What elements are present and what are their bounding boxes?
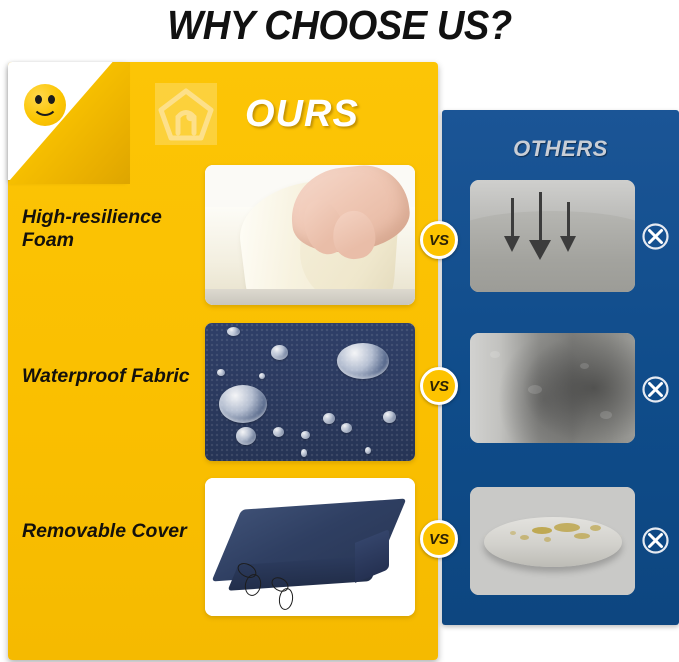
feature-label-row-2: Waterproof Fabric xyxy=(22,365,202,388)
feature-label-row-3: Removable Cover xyxy=(22,520,202,543)
ours-image-row-3-alt: navy-square-cushion-with-tie-straps xyxy=(0,0,1,1)
sagging-foam-illustration xyxy=(470,180,635,292)
smiley-face-icon xyxy=(24,84,66,126)
water-beading-fabric-illustration xyxy=(205,323,415,461)
others-panel-label: OTHERS xyxy=(442,136,679,162)
stained-round-cushion-illustration xyxy=(470,487,635,595)
ours-panel-label: OURS xyxy=(245,93,359,136)
page-title: WHY CHOOSE US? xyxy=(24,2,655,49)
infographic-page: WHY CHOOSE US? OTHERS gray-foam-sagging-… xyxy=(0,0,679,662)
feature-label-row-1: High-resilience Foam xyxy=(22,206,202,252)
navy-cushion-illustration xyxy=(205,478,415,616)
ours-image-row-1 xyxy=(205,165,415,305)
ours-image-row-1-alt: hand-pressing-resilient-cream-foam xyxy=(0,0,1,1)
vs-badge-row-3: VS xyxy=(420,520,458,558)
ours-image-row-2-alt: water-droplets-beading-on-navy-fabric xyxy=(0,0,1,1)
others-image-row-3-alt: gray-round-cushion-with-yellow-stains xyxy=(442,110,443,111)
wet-stained-fabric-illustration xyxy=(470,333,635,443)
others-image-row-1-alt: gray-foam-sagging-under-downward-arrows xyxy=(442,110,443,111)
circle-x-icon-row-1 xyxy=(641,222,670,251)
vs-badge-row-1: VS xyxy=(420,221,458,259)
others-image-row-2-alt: gray-fabric-soaked-with-water-stain xyxy=(442,110,443,111)
circle-x-icon-row-2 xyxy=(641,375,670,404)
page-curl-underside xyxy=(8,62,126,180)
others-image-row-3 xyxy=(470,487,635,595)
house-pentagon-logo-icon xyxy=(155,83,217,145)
ours-image-row-2 xyxy=(205,323,415,461)
others-image-row-1 xyxy=(470,180,635,292)
hand-pressing-foam-illustration xyxy=(205,165,415,305)
circle-x-icon-row-3 xyxy=(641,526,670,555)
vs-badge-row-2: VS xyxy=(420,367,458,405)
others-image-row-2 xyxy=(470,333,635,443)
ours-image-row-3 xyxy=(205,478,415,616)
